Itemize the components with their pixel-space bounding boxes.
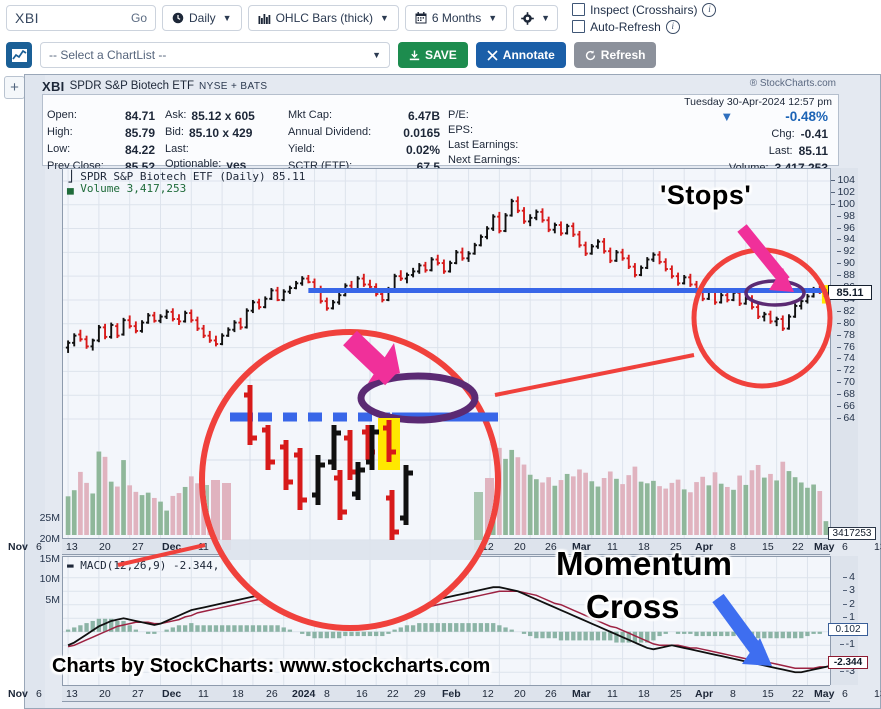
range-dropdown[interactable]: 6 Months ▼ bbox=[405, 5, 507, 31]
date-tick: 8 bbox=[324, 688, 330, 700]
chartlist-toolbar: -- Select a ChartList -- ▼ SAVE Annotate… bbox=[0, 36, 881, 74]
chevron-down-icon: ▼ bbox=[541, 13, 550, 23]
price-plot[interactable]: ⎦ SPDR S&P Biotech ETF (Daily) 85.11 ▄ V… bbox=[62, 168, 830, 538]
date-tick: 15 bbox=[762, 541, 774, 553]
macd-tick: 4 bbox=[849, 571, 855, 583]
open-label: Open: bbox=[47, 109, 109, 123]
price-tick: 96 bbox=[843, 222, 855, 234]
inspect-checkbox-row[interactable]: Inspect (Crosshairs) i bbox=[572, 3, 716, 17]
low-label: Low: bbox=[47, 143, 109, 157]
bid-label: Bid: bbox=[165, 126, 184, 140]
macd-icon: ▬ bbox=[67, 559, 74, 572]
save-label: SAVE bbox=[425, 48, 457, 62]
mktcap-value: 6.47B bbox=[408, 109, 440, 123]
bid-value: 85.10 x 429 bbox=[189, 126, 252, 140]
chart-icon-button[interactable] bbox=[6, 42, 32, 68]
price-tick: 72 bbox=[843, 364, 855, 376]
down-arrow-icon: ▼ bbox=[720, 109, 733, 124]
checkbox-group: Inspect (Crosshairs) i Auto-Refresh i bbox=[572, 3, 716, 34]
date-tick: 29 bbox=[414, 688, 426, 700]
price-tick: 90 bbox=[843, 257, 855, 269]
price-tick: 94 bbox=[843, 233, 855, 245]
price-y-axis: 1041021009896949290888684828078767472706… bbox=[830, 168, 858, 538]
price-tick: 82 bbox=[843, 305, 855, 317]
date-tick: Dec bbox=[162, 688, 181, 700]
price-tick: 104 bbox=[837, 174, 855, 186]
quote-col-bidask: Ask:85.12 x 605 Bid:85.10 x 429 Last: Op… bbox=[165, 109, 288, 175]
chart-icon bbox=[11, 48, 28, 63]
go-button[interactable]: Go bbox=[131, 11, 147, 25]
date-tick: May bbox=[814, 541, 834, 553]
yield-label: Yield: bbox=[288, 143, 315, 157]
date-tick: 27 bbox=[132, 688, 144, 700]
quote-datetime: Tuesday 30-Apr-2024 12:57 pm bbox=[684, 96, 832, 108]
symbol-input[interactable]: XBI Go bbox=[6, 5, 156, 31]
volume-tick: 10M bbox=[40, 573, 60, 585]
last2-label: Last: bbox=[769, 145, 793, 157]
date-tick: 11 bbox=[198, 688, 209, 700]
macd-zero-tag: 0.102 bbox=[828, 623, 868, 636]
chart-ticker: XBI bbox=[42, 79, 65, 94]
macd-value-tag: -2.344 bbox=[828, 656, 868, 669]
date-tick: 22 bbox=[792, 688, 804, 700]
download-icon bbox=[409, 50, 420, 61]
price-tick: 98 bbox=[843, 210, 855, 222]
refresh-label: Refresh bbox=[601, 48, 646, 62]
gear-icon bbox=[521, 12, 534, 25]
annotate-icon bbox=[487, 50, 498, 61]
volume-legend-line: ▄ Volume 3,417,253 bbox=[67, 183, 305, 195]
date-tick: 26 bbox=[266, 541, 278, 553]
date-tick: Feb bbox=[442, 688, 461, 700]
clock-icon bbox=[172, 12, 184, 24]
date-tick: 20 bbox=[514, 541, 526, 553]
quote-col-ohlc: Open:84.71 High:85.79 Low:84.22 Prev Clo… bbox=[47, 109, 165, 175]
price-tick: 102 bbox=[837, 186, 855, 198]
inspect-label: Inspect (Crosshairs) bbox=[590, 3, 697, 17]
date-tick: 25 bbox=[670, 688, 682, 700]
price-tick: 78 bbox=[843, 329, 855, 341]
date-tick: 20 bbox=[514, 688, 526, 700]
low-value: 84.22 bbox=[109, 143, 155, 157]
chevron-down-icon: ▼ bbox=[223, 13, 232, 23]
date-tick: 6 bbox=[36, 541, 42, 553]
date-tick: Dec bbox=[162, 541, 181, 553]
macd-legend: ▬ MACD(12,26,9) -2.344, -2.446 bbox=[67, 559, 266, 572]
date-tick: 2024 bbox=[292, 688, 315, 700]
date-tick: 26 bbox=[266, 688, 278, 700]
chartlist-value: -- Select a ChartList -- bbox=[49, 48, 166, 62]
price-legend: ⎦ SPDR S&P Biotech ETF (Daily) 85.11 ▄ V… bbox=[67, 171, 305, 195]
quote-col-change: ▼-0.48% Chg:-0.41 Last:85.11 Volume:3,41… bbox=[623, 109, 828, 175]
autorefresh-checkbox[interactable] bbox=[572, 20, 585, 33]
chevron-down-icon: ▼ bbox=[372, 50, 381, 60]
date-tick: Apr bbox=[695, 688, 713, 700]
lastearnings-label: Last Earnings: bbox=[448, 139, 518, 151]
date-tick: Feb bbox=[442, 541, 461, 553]
refresh-button[interactable]: Refresh bbox=[574, 42, 657, 68]
price-tick: 100 bbox=[837, 198, 855, 210]
chg-label: Chg: bbox=[771, 128, 794, 140]
volume-tick: 25M bbox=[40, 512, 60, 524]
price-chart-svg bbox=[63, 169, 830, 538]
price-tick: 74 bbox=[843, 352, 855, 364]
dividend-value: 0.0165 bbox=[403, 126, 440, 140]
macd-tick: 1 bbox=[849, 611, 855, 623]
price-tick: 80 bbox=[843, 317, 855, 329]
date-tick: 6 bbox=[842, 688, 848, 700]
date-tick: 16 bbox=[356, 541, 368, 553]
volume-tick: 15M bbox=[40, 553, 60, 565]
annotation-stops: 'Stops' bbox=[660, 180, 751, 211]
date-tick: 20 bbox=[99, 688, 111, 700]
date-tick: 12 bbox=[482, 688, 494, 700]
open-value: 84.71 bbox=[109, 109, 155, 123]
chart-name: SPDR S&P Biotech ETF bbox=[70, 80, 194, 92]
chevron-down-icon: ▼ bbox=[488, 13, 497, 23]
date-tick: 13 bbox=[66, 688, 78, 700]
volume-icon: ▄ bbox=[67, 182, 74, 195]
date-axis-lower: Nov6132027Dec11182620248162229Feb122026M… bbox=[62, 685, 830, 702]
change-pct: -0.48% bbox=[785, 109, 828, 124]
chg-value: -0.41 bbox=[801, 127, 828, 141]
save-button[interactable]: SAVE bbox=[398, 42, 468, 68]
volume-tick: 20M bbox=[40, 533, 60, 545]
annotate-button[interactable]: Annotate bbox=[476, 42, 566, 68]
current-price-tag: 85.11 bbox=[828, 285, 872, 300]
date-tick: 18 bbox=[232, 688, 244, 700]
high-value: 85.79 bbox=[109, 126, 155, 140]
price-tick: 64 bbox=[843, 412, 855, 424]
annotation-momentum: Momentum bbox=[556, 545, 732, 583]
pe-label: P/E: bbox=[448, 109, 469, 121]
date-tick: Nov bbox=[8, 688, 28, 700]
dividend-label: Annual Dividend: bbox=[288, 126, 371, 140]
annotation-watermark: Charts by StockCharts: www.stockcharts.c… bbox=[52, 655, 490, 678]
chevron-down-icon: ▼ bbox=[380, 13, 389, 23]
price-tick: 70 bbox=[843, 376, 855, 388]
current-volume-tag: 3417253 bbox=[828, 527, 876, 540]
top-toolbar: XBI Go Daily ▼ OHLC Bars (thick) ▼ bbox=[0, 0, 881, 36]
date-tick: 16 bbox=[356, 688, 368, 700]
volume-tick: 5M bbox=[45, 594, 60, 606]
price-tick: 76 bbox=[843, 341, 855, 353]
charttype-label: OHLC Bars (thick) bbox=[276, 11, 373, 25]
quote-col-fundamentals: Mkt Cap:6.47B Annual Dividend:0.0165 Yie… bbox=[288, 109, 448, 175]
date-tick: 20 bbox=[99, 541, 111, 553]
inspect-checkbox[interactable] bbox=[572, 3, 585, 16]
date-tick: 8 bbox=[730, 688, 736, 700]
date-tick: 22 bbox=[387, 688, 399, 700]
date-tick: 27 bbox=[132, 541, 144, 553]
date-tick: Nov bbox=[8, 541, 28, 553]
settings-dropdown[interactable]: ▼ bbox=[513, 5, 558, 31]
add-panel-button[interactable]: + bbox=[4, 76, 25, 99]
date-tick: Mar bbox=[572, 688, 591, 700]
info-icon[interactable]: i bbox=[666, 20, 680, 34]
date-tick: 6 bbox=[842, 541, 848, 553]
mktcap-label: Mkt Cap: bbox=[288, 109, 332, 123]
date-tick: 13 bbox=[66, 541, 78, 553]
high-label: High: bbox=[47, 126, 109, 140]
date-tick: 13 bbox=[874, 688, 881, 700]
date-tick: 15 bbox=[762, 688, 774, 700]
date-tick: 26 bbox=[545, 541, 557, 553]
last-label: Last: bbox=[165, 143, 189, 155]
date-tick: 8 bbox=[324, 541, 330, 553]
date-tick: 18 bbox=[638, 688, 650, 700]
volume-y-axis: 25M20M15M10M5M bbox=[20, 410, 62, 535]
chartlist-select[interactable]: -- Select a ChartList -- ▼ bbox=[40, 42, 390, 68]
date-tick: 18 bbox=[232, 541, 244, 553]
autorefresh-checkbox-row[interactable]: Auto-Refresh i bbox=[572, 20, 716, 34]
yield-value: 0.02% bbox=[406, 143, 440, 157]
macd-tick: 3 bbox=[849, 584, 855, 596]
date-tick: 11 bbox=[607, 688, 618, 700]
price-tick: 88 bbox=[843, 269, 855, 281]
date-tick: 13 bbox=[874, 541, 881, 553]
annotation-cross: Cross bbox=[586, 588, 680, 626]
date-tick: 11 bbox=[198, 541, 209, 553]
eps-label: EPS: bbox=[448, 124, 473, 136]
price-tick: 92 bbox=[843, 245, 855, 257]
calendar-icon bbox=[415, 12, 427, 24]
date-tick: 2024 bbox=[292, 541, 315, 553]
annotate-label: Annotate bbox=[503, 48, 555, 62]
autorefresh-label: Auto-Refresh bbox=[590, 20, 661, 34]
period-dropdown[interactable]: Daily ▼ bbox=[162, 5, 242, 31]
info-icon[interactable]: i bbox=[702, 3, 716, 17]
refresh-icon bbox=[585, 50, 596, 61]
date-tick: May bbox=[814, 688, 834, 700]
date-tick: 6 bbox=[36, 688, 42, 700]
price-tick: 68 bbox=[843, 388, 855, 400]
date-tick: 22 bbox=[792, 541, 804, 553]
symbol-value: XBI bbox=[15, 10, 39, 26]
nextearnings-label: Next Earnings: bbox=[448, 154, 520, 166]
chart-title-row: XBI SPDR S&P Biotech ETF NYSE + BATS ® S… bbox=[42, 78, 842, 94]
bars-icon bbox=[258, 13, 271, 24]
macd-tick: -1 bbox=[846, 638, 855, 650]
date-tick: 22 bbox=[387, 541, 399, 553]
quote-col-earnings: P/E: EPS: Last Earnings: Next Earnings: bbox=[448, 109, 623, 175]
charttype-dropdown[interactable]: OHLC Bars (thick) ▼ bbox=[248, 5, 399, 31]
ask-label: Ask: bbox=[165, 109, 186, 123]
quote-panel: Tuesday 30-Apr-2024 12:57 pm Open:84.71 … bbox=[42, 94, 839, 166]
period-label: Daily bbox=[189, 11, 216, 25]
date-tick: 26 bbox=[545, 688, 557, 700]
ask-value: 85.12 x 605 bbox=[191, 109, 254, 123]
range-label: 6 Months bbox=[432, 11, 481, 25]
stockcharts-page: XBI Go Daily ▼ OHLC Bars (thick) ▼ bbox=[0, 0, 881, 709]
brand-label: ® StockCharts.com bbox=[750, 78, 836, 89]
date-tick: 29 bbox=[414, 541, 426, 553]
macd-tick: 2 bbox=[849, 598, 855, 610]
date-tick: 12 bbox=[482, 541, 494, 553]
price-tick: 66 bbox=[843, 400, 855, 412]
chart-exchange: NYSE + BATS bbox=[199, 81, 267, 92]
last2-value: 85.11 bbox=[799, 144, 828, 158]
